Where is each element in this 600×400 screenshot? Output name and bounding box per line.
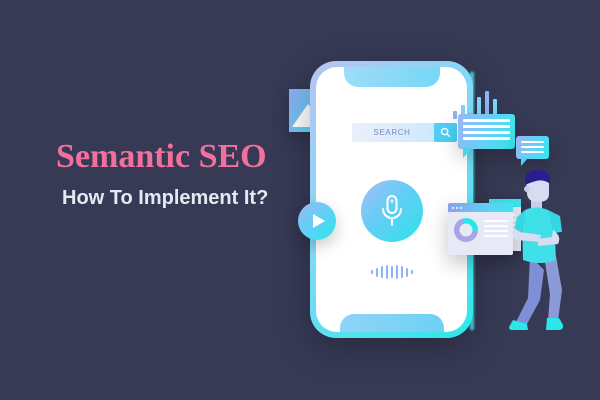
microphone-icon <box>379 194 405 228</box>
chat-bubble-tail <box>521 158 528 166</box>
smartphone-mockup: SEARCH <box>310 61 473 338</box>
chat-bubble-lines <box>521 141 544 156</box>
voice-search-button[interactable] <box>361 180 423 242</box>
search-button[interactable] <box>434 123 457 142</box>
phone-screen: SEARCH <box>316 67 467 332</box>
headline-block: Semantic SEO How To Implement It? <box>56 138 296 210</box>
play-button[interactable] <box>298 202 336 240</box>
phone-home-indicator <box>340 314 444 332</box>
chat-bubble-large <box>458 114 515 149</box>
play-icon <box>313 214 325 228</box>
window-dot <box>452 207 454 209</box>
audio-waveform <box>371 263 413 281</box>
chat-bubble-tail <box>463 148 472 158</box>
page-title: Semantic SEO <box>56 138 296 176</box>
search-input-text: SEARCH <box>352 128 434 137</box>
search-icon <box>440 127 451 138</box>
search-input[interactable]: SEARCH <box>352 123 457 142</box>
donut-chart-icon <box>454 218 478 242</box>
page-subtitle: How To Implement It? <box>62 186 296 210</box>
chat-bubble-small <box>516 136 549 159</box>
chat-bubble-lines <box>463 119 510 143</box>
window-dot <box>460 207 462 209</box>
illustration-canvas: Semantic SEO How To Implement It? SEARCH <box>0 0 600 400</box>
phone-notch <box>344 67 440 87</box>
window-dot <box>456 207 458 209</box>
person-illustration <box>500 170 575 335</box>
